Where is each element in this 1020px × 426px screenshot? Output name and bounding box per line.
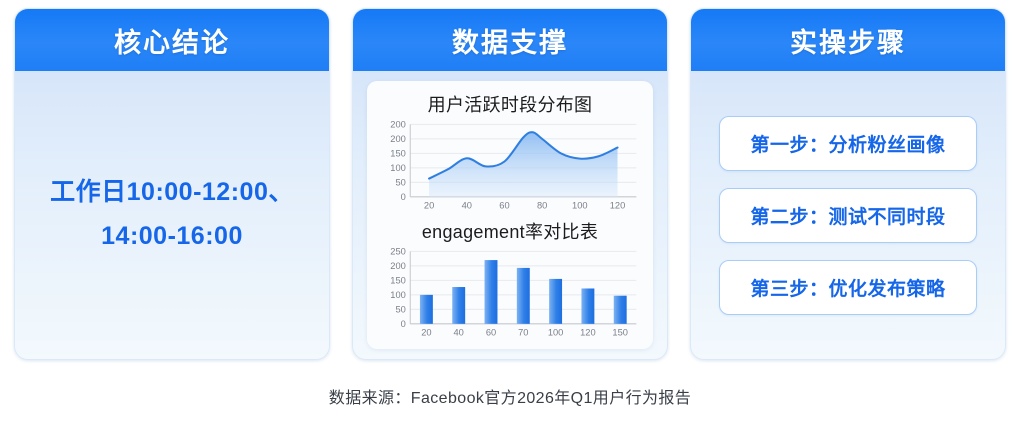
svg-text:250: 250 <box>390 247 406 257</box>
svg-text:40: 40 <box>462 201 472 211</box>
card-header-action-steps: 实操步骤 <box>691 9 1005 71</box>
chart-engagement: engagement率对比表 2502001501005002040607010… <box>377 216 643 343</box>
svg-text:0: 0 <box>401 192 406 202</box>
svg-text:150: 150 <box>612 328 628 338</box>
charts-panel: 用户活跃时段分布图 20020015010050020406080100120 … <box>367 81 653 349</box>
chart-area-user-activity: 20020015010050020406080100120 <box>377 118 643 216</box>
card-title-data-support: 数据支撑 <box>452 21 568 60</box>
svg-text:200: 200 <box>390 261 406 271</box>
svg-text:20: 20 <box>424 201 434 211</box>
card-core-conclusion: 核心结论 工作日10:00-12:00、 14:00-16:00 <box>14 8 330 360</box>
svg-text:200: 200 <box>390 120 406 130</box>
card-action-steps: 实操步骤 第一步：分析粉丝画像 第二步：测试不同时段 第三步：优化发布策略 <box>690 8 1006 360</box>
card-header-core-conclusion: 核心结论 <box>15 9 329 71</box>
svg-text:150: 150 <box>390 276 406 286</box>
svg-text:100: 100 <box>572 201 588 211</box>
svg-text:100: 100 <box>548 328 564 338</box>
svg-text:150: 150 <box>390 149 406 159</box>
step-label-1: 第一步：分析粉丝画像 <box>750 130 945 157</box>
steps-list: 第一步：分析粉丝画像 第二步：测试不同时段 第三步：优化发布策略 <box>705 116 991 315</box>
svg-text:100: 100 <box>390 163 406 173</box>
card-body-action-steps: 第一步：分析粉丝画像 第二步：测试不同时段 第三步：优化发布策略 <box>691 71 1005 359</box>
svg-text:120: 120 <box>610 201 626 211</box>
svg-text:50: 50 <box>395 305 405 315</box>
svg-text:40: 40 <box>454 328 464 338</box>
chart-area-engagement: 25020015010050020406070100120150 <box>377 245 643 343</box>
svg-text:60: 60 <box>499 201 509 211</box>
svg-text:70: 70 <box>518 328 528 338</box>
svg-text:50: 50 <box>395 178 405 188</box>
footer: 数据来源：Facebook官方2026年Q1用户行为报告 <box>0 384 1020 408</box>
step-item-1[interactable]: 第一步：分析粉丝画像 <box>719 116 977 171</box>
svg-text:20: 20 <box>421 328 431 338</box>
chart-title-engagement: engagement率对比表 <box>377 218 643 244</box>
data-source-text: 数据来源：Facebook官方2026年Q1用户行为报告 <box>329 390 691 407</box>
chart-user-activity: 用户活跃时段分布图 20020015010050020406080100120 <box>377 89 643 216</box>
conclusion-line-2: 14:00-16:00 <box>50 215 294 259</box>
svg-text:60: 60 <box>486 328 496 338</box>
card-title-action-steps: 实操步骤 <box>790 21 906 60</box>
step-label-3: 第三步：优化发布策略 <box>750 274 945 301</box>
card-data-support: 数据支撑 用户活跃时段分布图 2002001501005002040608010… <box>352 8 668 360</box>
slide-root: 核心结论 工作日10:00-12:00、 14:00-16:00 数据支撑 用户… <box>0 0 1020 426</box>
chart-title-user-activity: 用户活跃时段分布图 <box>377 91 643 117</box>
svg-text:200: 200 <box>390 134 406 144</box>
cards-row: 核心结论 工作日10:00-12:00、 14:00-16:00 数据支撑 用户… <box>0 0 1020 360</box>
card-body-core-conclusion: 工作日10:00-12:00、 14:00-16:00 <box>15 71 329 359</box>
svg-text:100: 100 <box>390 290 406 300</box>
conclusion-line-1: 工作日10:00-12:00、 <box>50 171 294 215</box>
step-label-2: 第二步：测试不同时段 <box>750 202 945 229</box>
svg-text:120: 120 <box>580 328 596 338</box>
card-title-core-conclusion: 核心结论 <box>114 21 230 60</box>
card-body-data-support: 用户活跃时段分布图 20020015010050020406080100120 … <box>353 71 667 359</box>
step-item-2[interactable]: 第二步：测试不同时段 <box>719 188 977 243</box>
bar-chart-svg: 25020015010050020406070100120150 <box>377 245 643 343</box>
svg-text:0: 0 <box>401 319 406 329</box>
conclusion-text-block: 工作日10:00-12:00、 14:00-16:00 <box>50 171 294 259</box>
card-header-data-support: 数据支撑 <box>353 9 667 71</box>
step-item-3[interactable]: 第三步：优化发布策略 <box>719 260 977 315</box>
svg-text:80: 80 <box>537 201 547 211</box>
line-chart-svg: 20020015010050020406080100120 <box>377 118 643 216</box>
